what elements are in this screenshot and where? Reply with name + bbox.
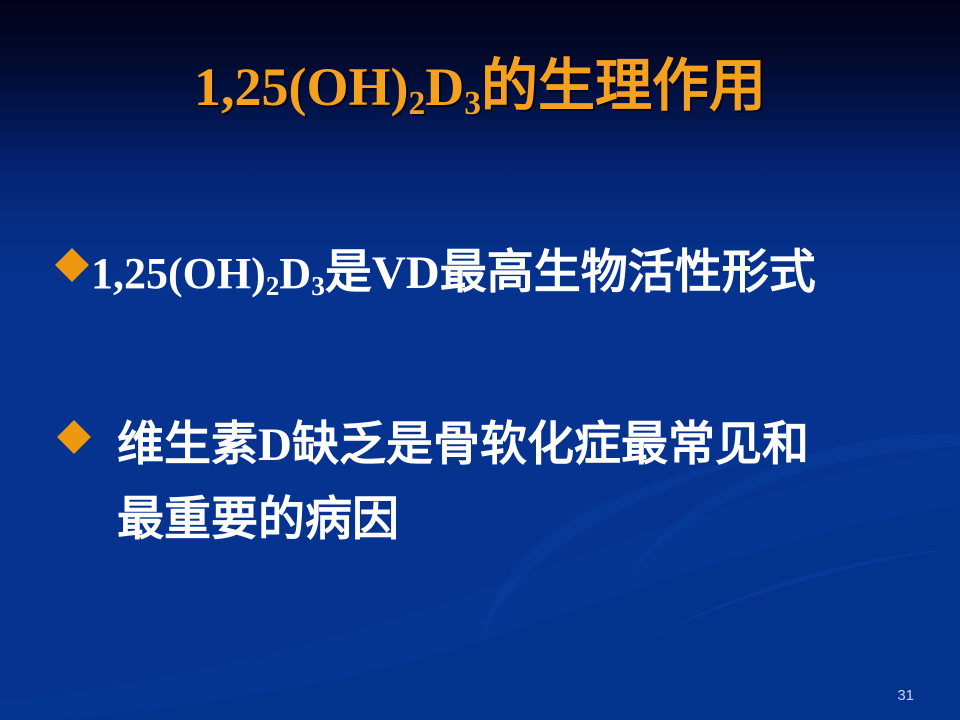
bullet-2-line-1: 维生素D缺乏是骨软化症最常见和: [117, 419, 809, 471]
bullet-2-text: 维生素D缺乏是骨软化症最常见和 最重要的病因: [117, 408, 809, 557]
slide-canvas: 1,25(OH)2D3的生理作用 1,25(OH)2D3是VD最高生物活性形式 …: [0, 0, 960, 720]
slide-body: 1,25(OH)2D3是VD最高生物活性形式 维生素D缺乏是骨软化症最常见和 最…: [0, 236, 960, 557]
title-text: 1,25(OH)2D3的生理作用: [194, 57, 766, 117]
title-segment-3: 的生理作用: [481, 55, 766, 118]
title-subscript-2: 3: [464, 85, 481, 122]
bullet-1-subscript-1: 2: [266, 271, 280, 301]
bullet-item-2: 维生素D缺乏是骨软化症最常见和 最重要的病因: [62, 408, 960, 557]
diamond-bullet-icon: [55, 248, 89, 282]
bullet-2-line-2: 最重要的病因: [117, 483, 809, 557]
bullet-1-segment-1: 1,25(OH): [91, 249, 266, 298]
bullet-1-segment-3: 是VD最高生物活性形式: [325, 247, 816, 299]
bullet-1-subscript-2: 3: [311, 271, 325, 301]
slide-title: 1,25(OH)2D3的生理作用: [0, 57, 960, 117]
title-segment-1: 1,25(OH): [194, 57, 408, 117]
title-subscript-1: 2: [409, 85, 426, 122]
diamond-bullet-icon: [57, 420, 91, 454]
bullet-item-1: 1,25(OH)2D3是VD最高生物活性形式: [60, 236, 960, 316]
bullet-1-segment-2: D: [279, 249, 311, 298]
bullet-1-text: 1,25(OH)2D3是VD最高生物活性形式: [91, 236, 816, 316]
title-segment-2: D: [425, 57, 464, 117]
page-number: 31: [897, 688, 914, 703]
